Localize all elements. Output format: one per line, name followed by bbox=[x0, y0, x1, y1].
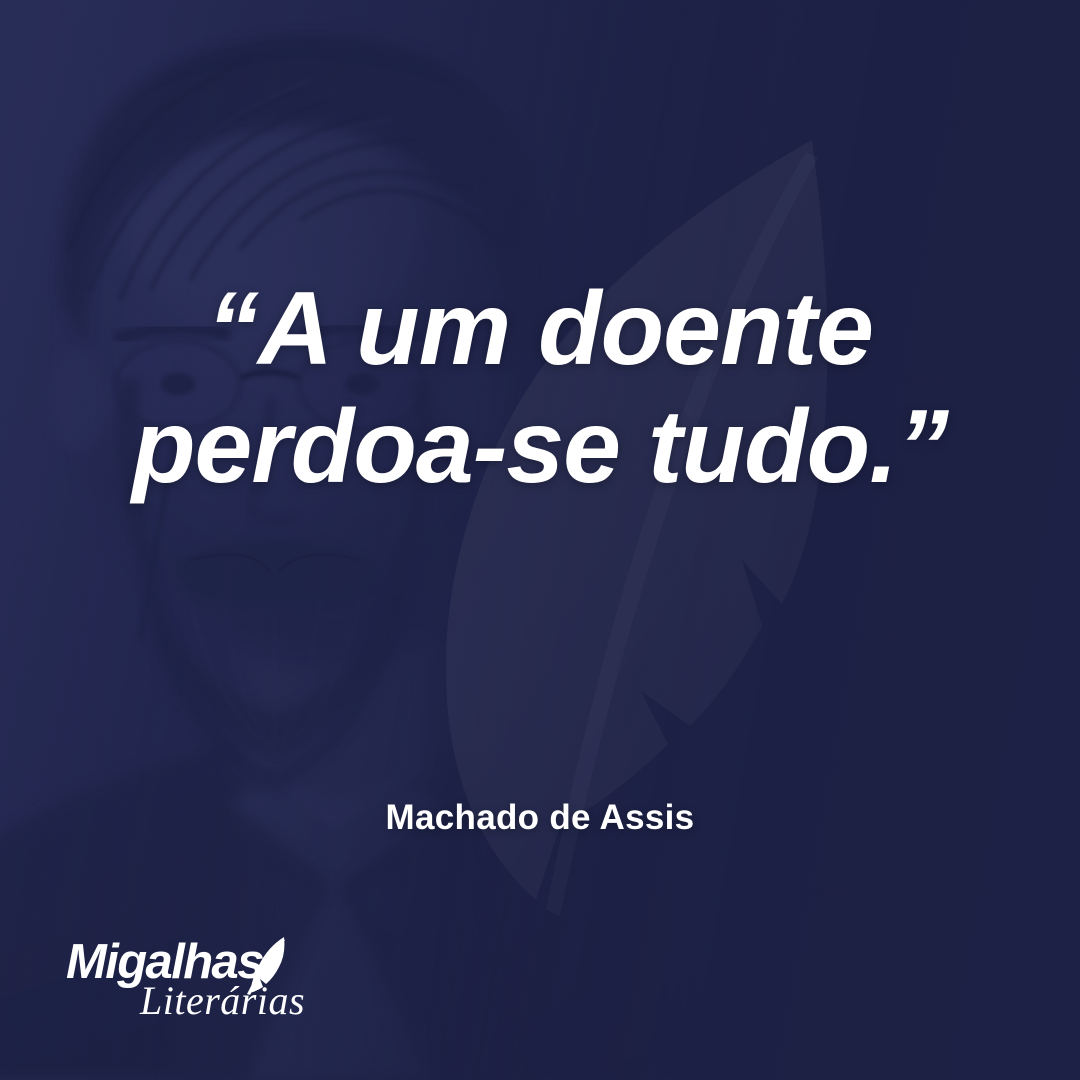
migalhas-literarias-logo[interactable]: Migalhas Literárias bbox=[66, 938, 316, 1022]
quote-card: “A um doente perdoa-se tudo.” Machado de… bbox=[0, 0, 1080, 1080]
quote-text: “A um doente perdoa-se tudo.” bbox=[0, 270, 1080, 506]
author-name: Machado de Assis bbox=[0, 798, 1080, 838]
quote-line-1: “A um doente bbox=[70, 270, 1010, 388]
logo-subtitle: Literárias bbox=[140, 979, 305, 1023]
quote-line-2: perdoa-se tudo.” bbox=[70, 388, 1010, 506]
content-layer: “A um doente perdoa-se tudo.” Machado de… bbox=[0, 0, 1080, 1080]
